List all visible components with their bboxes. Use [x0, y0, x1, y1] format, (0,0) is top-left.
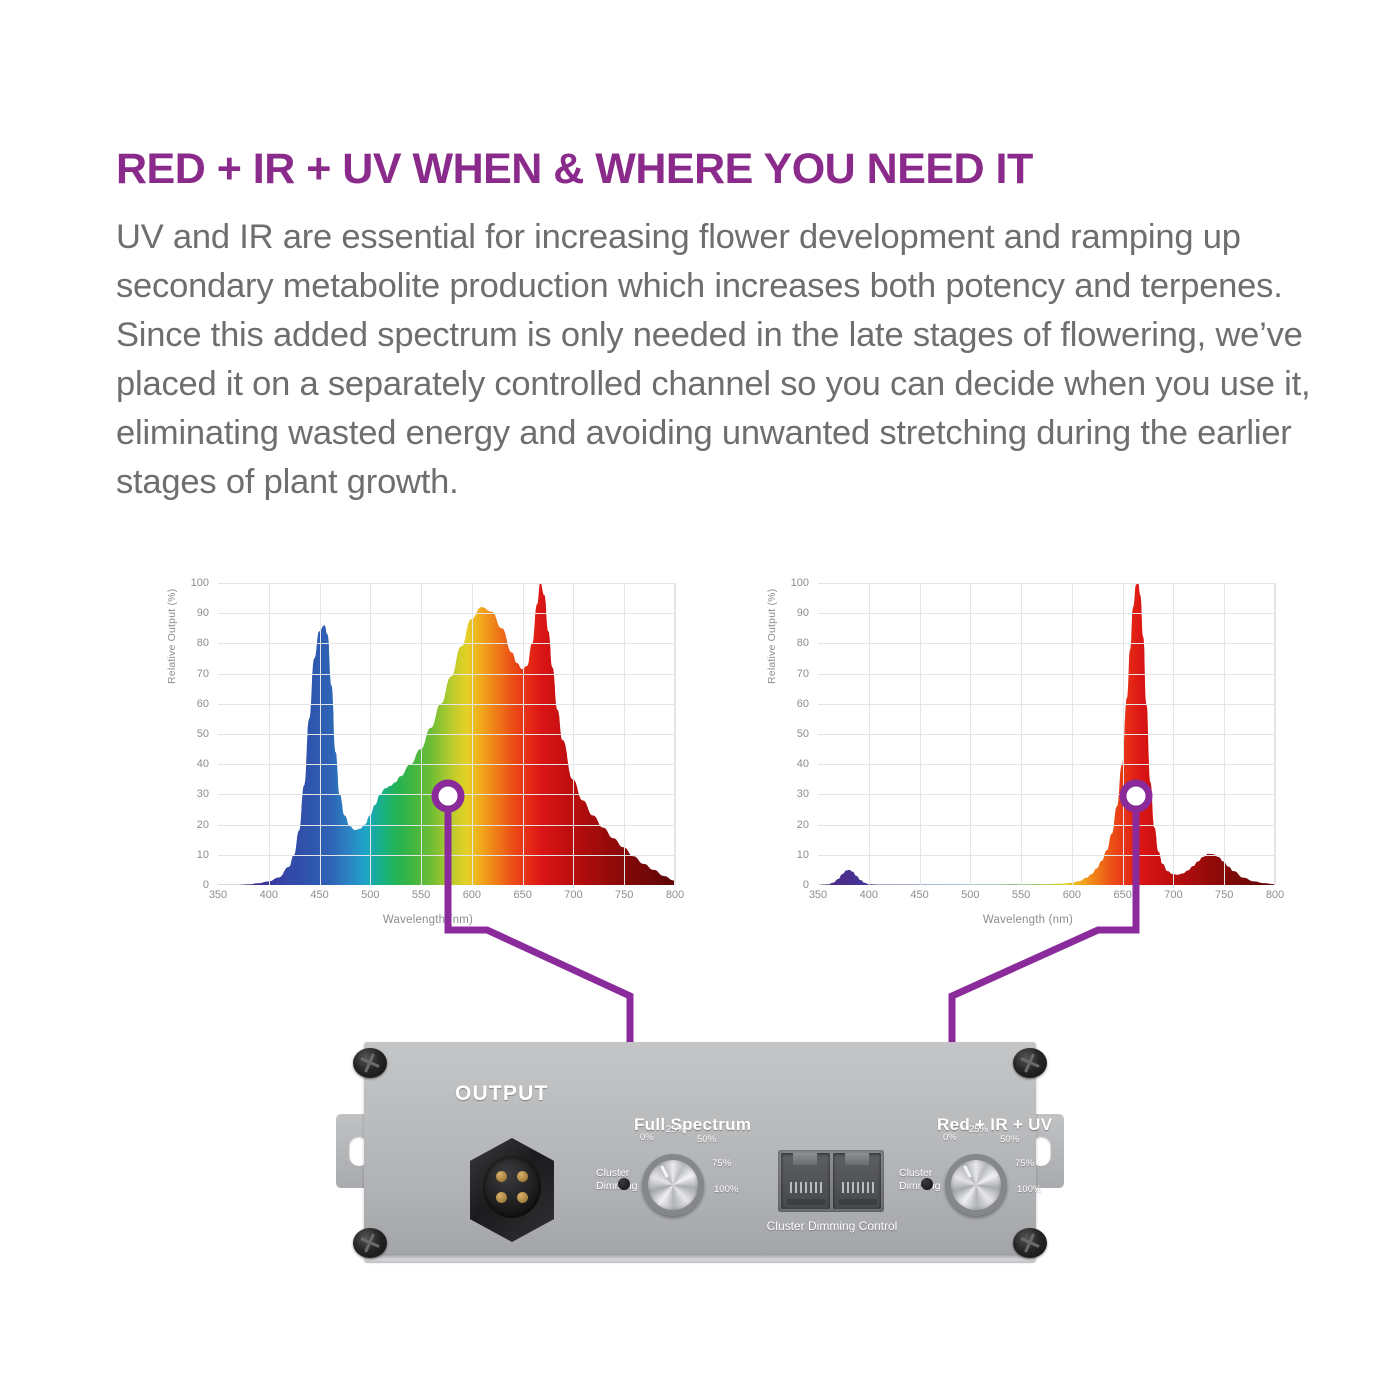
chart-y-tick-label: 40: [773, 758, 817, 770]
driver-output-panel: OUTPUT Full Spectrum Red + IR + UV Clust…: [336, 1028, 1064, 1276]
dimming-knob-red-ir-uv[interactable]: [945, 1154, 1007, 1216]
chart-y-tick-label: 70: [173, 668, 217, 680]
knob-pointer: [660, 1165, 669, 1178]
chart-x-axis-label: Wavelength (nm): [168, 914, 688, 926]
knob-scale-50: 50%: [1000, 1134, 1019, 1145]
chart-y-tick-label: 20: [173, 819, 217, 831]
panel-screw-bottom-left: [353, 1228, 387, 1258]
chart-gridline-horizontal: [818, 643, 1274, 644]
rj-slot: [839, 1199, 877, 1205]
chart-gridline-horizontal: [818, 583, 1274, 584]
knob-scale-25: 25%: [666, 1124, 685, 1135]
chart-gridline-horizontal: [818, 794, 1274, 795]
knob-scale-75: 75%: [1015, 1158, 1034, 1169]
rj-pins: [790, 1182, 822, 1193]
chart-y-tick-label: 100: [173, 577, 217, 589]
chart-plot-area: 3504004505005506006507007508000102030405…: [218, 583, 675, 885]
chart-x-tick-label: 800: [1245, 889, 1305, 901]
chart-gridline-vertical: [1275, 583, 1276, 885]
chart-y-tick-label: 50: [773, 728, 817, 740]
chart-gridline-horizontal: [818, 825, 1274, 826]
panel-screw-bottom-right: [1013, 1228, 1047, 1258]
knob-index-dot-right: [921, 1178, 933, 1190]
marketing-spec-page: RED + IR + UV WHEN & WHERE YOU NEED IT U…: [0, 0, 1400, 1400]
rj-pins: [842, 1182, 874, 1193]
chart-y-tick-label: 10: [173, 849, 217, 861]
chart-y-tick-label: 90: [173, 607, 217, 619]
panel-face: OUTPUT Full Spectrum Red + IR + UV Clust…: [364, 1042, 1036, 1260]
knob-scale-0: 0%: [943, 1132, 957, 1143]
knob-pointer: [963, 1165, 972, 1178]
chart-gridline-horizontal: [218, 764, 674, 765]
body-paragraph: UV and IR are essential for increasing f…: [116, 213, 1311, 507]
page-title: RED + IR + UV WHEN & WHERE YOU NEED IT: [116, 147, 1296, 192]
chart-x-axis-label: Wavelength (nm): [768, 914, 1288, 926]
knob-scale-100: 100%: [714, 1184, 738, 1195]
chart-gridline-vertical: [675, 583, 676, 885]
knob-scale-75: 75%: [712, 1158, 731, 1169]
output-connector[interactable]: [470, 1138, 554, 1242]
chart-y-tick-label: 30: [773, 788, 817, 800]
connector-pin: [496, 1171, 507, 1182]
dimming-knob-group-red-ir-uv: Cluster Dimming 0% 25% 50% 75% 100%: [899, 1122, 1079, 1242]
connector-pin: [517, 1192, 528, 1203]
chart-gridline-horizontal: [218, 643, 674, 644]
knob-surface: [648, 1160, 698, 1210]
knob-index-dot-left: [618, 1178, 630, 1190]
chart-gridline-horizontal: [818, 704, 1274, 705]
knob-scale-0: 0%: [640, 1132, 654, 1143]
chart-gridline-horizontal: [218, 613, 674, 614]
chart-x-tick-label: 800: [645, 889, 705, 901]
chart-gridline-horizontal: [818, 855, 1274, 856]
chart-y-tick-label: 0: [773, 879, 817, 891]
chart-gridline-horizontal: [818, 734, 1274, 735]
connector-face: [483, 1156, 541, 1218]
chart-y-tick-label: 100: [773, 577, 817, 589]
chart-y-tick-label: 60: [173, 698, 217, 710]
chart-gridline-horizontal: [218, 583, 674, 584]
chart-gridline-horizontal: [218, 794, 674, 795]
rj-port-1[interactable]: [781, 1153, 830, 1209]
dimming-knob-full-spectrum[interactable]: [642, 1154, 704, 1216]
chart-gridline-horizontal: [218, 704, 674, 705]
chart-gridline-horizontal: [818, 613, 1274, 614]
chart-gridline-horizontal: [818, 674, 1274, 675]
chart-gridline-horizontal: [818, 764, 1274, 765]
chart-full-spectrum: Relative Output (%) Wavelength (nm) 3504…: [168, 566, 688, 936]
chart-gridline-horizontal: [218, 825, 674, 826]
knob-surface: [951, 1160, 1001, 1210]
rj-port-2[interactable]: [833, 1153, 882, 1209]
chart-y-tick-label: 40: [173, 758, 217, 770]
chart-y-tick-label: 20: [773, 819, 817, 831]
knob-scale-25: 25%: [969, 1124, 988, 1135]
chart-y-tick-label: 80: [173, 637, 217, 649]
chart-y-tick-label: 70: [773, 668, 817, 680]
chart-plot-area: 3504004505005506006507007508000102030405…: [818, 583, 1275, 885]
chart-y-tick-label: 0: [173, 879, 217, 891]
output-label: OUTPUT: [455, 1082, 549, 1106]
panel-bottom-edge: [364, 1254, 1036, 1263]
chart-gridline-horizontal: [218, 734, 674, 735]
chart-gridline-horizontal: [218, 855, 674, 856]
panel-screw-top-left: [353, 1048, 387, 1078]
connector-pin: [517, 1171, 528, 1182]
knob-scale-50: 50%: [697, 1134, 716, 1145]
chart-y-tick-label: 10: [773, 849, 817, 861]
chart-y-tick-label: 50: [173, 728, 217, 740]
chart-y-tick-label: 90: [773, 607, 817, 619]
chart-gridline-horizontal: [218, 674, 674, 675]
cluster-dimming-ports[interactable]: [778, 1150, 884, 1212]
chart-y-tick-label: 60: [773, 698, 817, 710]
connector-pin: [496, 1192, 507, 1203]
chart-y-tick-label: 80: [773, 637, 817, 649]
rj-slot: [787, 1199, 825, 1205]
knob-scale-100: 100%: [1017, 1184, 1041, 1195]
chart-y-tick-label: 30: [173, 788, 217, 800]
panel-screw-top-right: [1013, 1048, 1047, 1078]
chart-red-ir-uv: Relative Output (%) Wavelength (nm) 3504…: [768, 566, 1288, 936]
